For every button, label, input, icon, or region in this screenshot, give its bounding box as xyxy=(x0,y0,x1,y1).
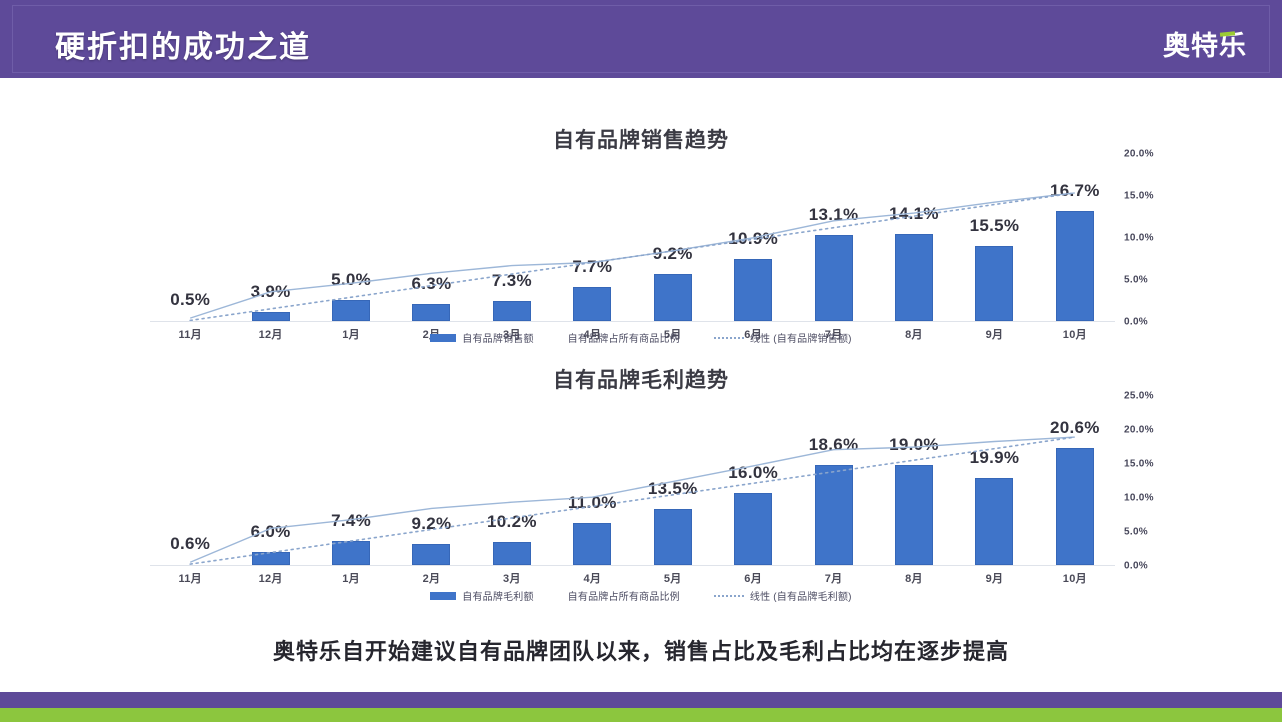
x-axis-tick: 9月 xyxy=(954,570,1034,586)
bar-value-label: 5.0% xyxy=(331,270,371,290)
y-axis-tick: 10.0% xyxy=(1124,233,1154,244)
legend-item-margin-bar[interactable]: 自有品牌毛利额 xyxy=(430,588,533,603)
bar-slot: 16.0% xyxy=(713,395,793,565)
bar-value-label: 16.7% xyxy=(1050,181,1100,201)
bar[interactable] xyxy=(573,523,611,565)
bar-slot: 19.0% xyxy=(874,395,954,565)
brand-logo-accent: 乐 xyxy=(1219,24,1247,63)
bar-value-label: 13.5% xyxy=(648,479,698,499)
legend-label-margin-bar: 自有品牌毛利额 xyxy=(462,588,533,603)
legend-label-sales-trend: 线性 (自有品牌销售额) xyxy=(750,330,852,345)
x-axis-tick: 8月 xyxy=(874,570,954,586)
y-axis-tick: 10.0% xyxy=(1124,493,1154,504)
bar[interactable] xyxy=(1056,211,1094,321)
bar-value-label: 10.9% xyxy=(728,229,778,249)
bar-slot: 9.2% xyxy=(633,153,713,321)
bar-slot: 11.0% xyxy=(552,395,632,565)
chart-title-sales: 自有品牌销售趋势 xyxy=(0,124,1282,154)
y-axis-tick: 15.0% xyxy=(1124,459,1154,470)
bar[interactable] xyxy=(734,259,772,321)
bar-slot: 7.4% xyxy=(311,395,391,565)
legend-swatch-bar-icon xyxy=(430,334,456,342)
bar-value-label: 0.5% xyxy=(170,290,210,310)
bar-value-label: 10.2% xyxy=(487,512,537,532)
bar-value-label: 7.4% xyxy=(331,511,371,531)
legend-swatch-bar-icon xyxy=(430,592,456,600)
bar-slot: 19.9% xyxy=(954,395,1034,565)
bar[interactable] xyxy=(573,287,611,321)
bar-slot: 18.6% xyxy=(793,395,873,565)
x-axis-margin: 11月12月1月2月3月4月5月6月7月8月9月10月 xyxy=(150,570,1115,586)
bar[interactable] xyxy=(895,234,933,321)
bar[interactable] xyxy=(493,301,531,321)
slide-root: 硬折扣的成功之道 奥特乐 自有品牌销售趋势 0.5%3.9%5.0%6.3%7.… xyxy=(0,0,1282,722)
bar-slot: 6.3% xyxy=(391,153,471,321)
bar-slot: 10.2% xyxy=(472,395,552,565)
plot-area-sales: 0.5%3.9%5.0%6.3%7.3%7.7%9.2%10.9%13.1%14… xyxy=(150,154,1115,322)
page-title: 硬折扣的成功之道 xyxy=(55,22,311,66)
bar-value-label: 18.6% xyxy=(809,435,859,455)
legend-label-margin-ratio: 自有品牌占所有商品比例 xyxy=(568,588,680,603)
legend-item-margin-ratio[interactable]: 自有品牌占所有商品比例 xyxy=(568,588,680,603)
bar-slot: 0.5% xyxy=(150,153,230,321)
bar[interactable] xyxy=(332,300,370,321)
bar[interactable] xyxy=(975,246,1013,321)
bar[interactable] xyxy=(412,544,450,565)
x-axis-tick: 10月 xyxy=(1035,570,1115,586)
y-axis-tick: 0.0% xyxy=(1124,561,1148,572)
bar-value-label: 3.9% xyxy=(251,282,291,302)
bar-value-label: 19.9% xyxy=(970,448,1020,468)
x-axis-tick: 7月 xyxy=(793,570,873,586)
brand-logo: 奥特乐 xyxy=(1163,24,1247,63)
x-axis-tick: 2月 xyxy=(391,570,471,586)
bar-slot: 16.7% xyxy=(1035,153,1115,321)
x-axis-tick: 11月 xyxy=(150,570,230,586)
legend-label-sales-ratio: 自有品牌占所有商品比例 xyxy=(568,330,680,345)
bar-value-label: 7.3% xyxy=(492,271,532,291)
bar[interactable] xyxy=(252,552,290,565)
legend-swatch-dotted-icon xyxy=(714,595,744,597)
axis-baseline-margin xyxy=(150,565,1115,566)
bar[interactable] xyxy=(332,541,370,565)
chart-title-margin: 自有品牌毛利趋势 xyxy=(0,364,1282,394)
legend-item-sales-bar[interactable]: 自有品牌销售额 xyxy=(430,330,533,345)
chart-gross-margin-trend: 自有品牌毛利趋势 0.6%6.0%7.4%9.2%10.2%11.0%13.5%… xyxy=(0,360,1282,605)
plot-area-margin: 0.6%6.0%7.4%9.2%10.2%11.0%13.5%16.0%18.6… xyxy=(150,396,1115,566)
y-axis-tick: 5.0% xyxy=(1124,275,1148,286)
legend-label-sales-bar: 自有品牌销售额 xyxy=(462,330,533,345)
bar[interactable] xyxy=(412,304,450,321)
bar-value-label: 13.1% xyxy=(809,205,859,225)
bar-slot: 3.9% xyxy=(230,153,310,321)
bar[interactable] xyxy=(975,478,1013,565)
bar[interactable] xyxy=(654,509,692,565)
x-axis-tick: 6月 xyxy=(713,570,793,586)
bar-value-label: 11.0% xyxy=(568,493,617,513)
x-axis-tick: 12月 xyxy=(230,570,310,586)
y-axis-tick: 15.0% xyxy=(1124,191,1154,202)
bar-group-margin: 0.6%6.0%7.4%9.2%10.2%11.0%13.5%16.0%18.6… xyxy=(150,395,1115,565)
header-band: 硬折扣的成功之道 奥特乐 xyxy=(0,0,1282,78)
x-axis-tick: 1月 xyxy=(311,570,391,586)
bar-value-label: 20.6% xyxy=(1050,418,1100,438)
bar[interactable] xyxy=(252,312,290,321)
bar-value-label: 16.0% xyxy=(728,463,778,483)
legend-item-margin-trend[interactable]: 线性 (自有品牌毛利额) xyxy=(714,588,852,603)
bar-value-label: 14.1% xyxy=(889,204,939,224)
bar-value-label: 6.0% xyxy=(251,522,291,542)
axis-baseline-sales xyxy=(150,321,1115,322)
legend-swatch-dotted-icon xyxy=(714,337,744,339)
bar-slot: 13.1% xyxy=(793,153,873,321)
bar-value-label: 19.0% xyxy=(889,435,939,455)
legend-margin: 自有品牌毛利额 自有品牌占所有商品比例 线性 (自有品牌毛利额) xyxy=(0,588,1282,603)
bar-slot: 5.0% xyxy=(311,153,391,321)
summary-caption: 奥特乐自开始建议自有品牌团队以来，销售占比及毛利占比均在逐步提高 xyxy=(0,634,1282,666)
y-axis-tick: 20.0% xyxy=(1124,149,1154,160)
bar[interactable] xyxy=(895,465,933,565)
x-axis-tick: 4月 xyxy=(552,570,632,586)
bar-slot: 9.2% xyxy=(391,395,471,565)
bar[interactable] xyxy=(654,274,692,321)
legend-item-sales-ratio[interactable]: 自有品牌占所有商品比例 xyxy=(568,330,680,345)
bar-slot: 10.9% xyxy=(713,153,793,321)
y-axis-tick: 20.0% xyxy=(1124,425,1154,436)
bar[interactable] xyxy=(815,235,853,321)
bar-slot: 7.7% xyxy=(552,153,632,321)
bar-group-sales: 0.5%3.9%5.0%6.3%7.3%7.7%9.2%10.9%13.1%14… xyxy=(150,153,1115,321)
bar-value-label: 9.2% xyxy=(653,244,693,264)
bar-value-label: 15.5% xyxy=(970,216,1020,236)
legend-sales: 自有品牌销售额 自有品牌占所有商品比例 线性 (自有品牌销售额) xyxy=(0,330,1282,345)
bar-slot: 0.6% xyxy=(150,395,230,565)
bar-slot: 7.3% xyxy=(472,153,552,321)
header-inner-frame: 硬折扣的成功之道 奥特乐 xyxy=(12,5,1270,73)
bar-slot: 20.6% xyxy=(1035,395,1115,565)
chart-sales-trend: 自有品牌销售趋势 0.5%3.9%5.0%6.3%7.3%7.7%9.2%10.… xyxy=(0,120,1282,355)
bar-slot: 14.1% xyxy=(874,153,954,321)
y-axis-tick: 0.0% xyxy=(1124,317,1148,328)
legend-item-sales-trend[interactable]: 线性 (自有品牌销售额) xyxy=(714,330,852,345)
bar-value-label: 0.6% xyxy=(170,534,210,554)
legend-label-margin-trend: 线性 (自有品牌毛利额) xyxy=(750,588,852,603)
bar[interactable] xyxy=(734,493,772,565)
y-axis-right-sales: 20.0%15.0%10.0%5.0%0.0% xyxy=(1124,154,1182,322)
bar[interactable] xyxy=(815,465,853,565)
bar-value-label: 6.3% xyxy=(411,274,451,294)
brand-logo-prefix: 奥特 xyxy=(1163,31,1219,61)
bar-slot: 6.0% xyxy=(230,395,310,565)
x-axis-tick: 3月 xyxy=(472,570,552,586)
footer-stripe-purple xyxy=(0,692,1282,708)
y-axis-tick: 25.0% xyxy=(1124,391,1154,402)
bar-slot: 13.5% xyxy=(633,395,713,565)
y-axis-tick: 5.0% xyxy=(1124,527,1148,538)
bar-value-label: 7.7% xyxy=(572,257,612,277)
bar-value-label: 9.2% xyxy=(411,514,451,534)
y-axis-right-margin: 25.0%20.0%15.0%10.0%5.0%0.0% xyxy=(1124,396,1182,566)
bar[interactable] xyxy=(1056,448,1094,565)
x-axis-tick: 5月 xyxy=(633,570,713,586)
bar-slot: 15.5% xyxy=(954,153,1034,321)
bar[interactable] xyxy=(493,542,531,565)
footer-stripe-green xyxy=(0,708,1282,722)
